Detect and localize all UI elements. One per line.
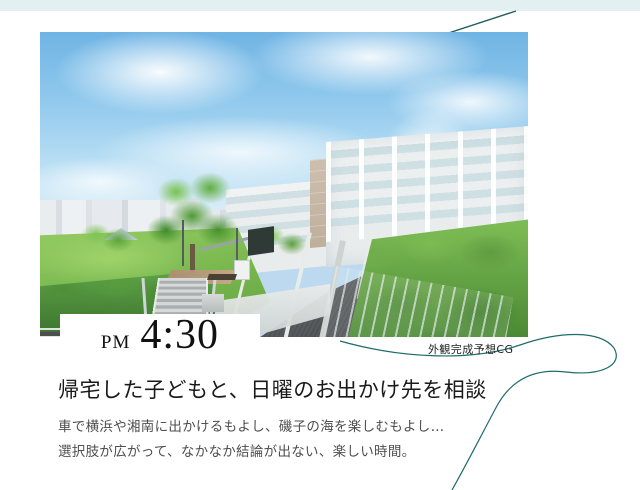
white-signboard: [234, 260, 250, 280]
photo-caption: 外観完成予想CG: [428, 341, 513, 357]
hero-photo: [40, 32, 528, 337]
page-title: 帰宅した子どもと、日曜のお出かけ先を相談: [58, 374, 487, 404]
body-copy-line-1: 車で横浜や湘南に出かけるもよし、磯子の海を楽しむもよし…: [58, 415, 444, 440]
body-copy-line-2: 選択肢が広がって、なかなか結論が出ない、楽しい時間。: [58, 440, 444, 465]
ribbon-curve-loop: [452, 348, 616, 490]
dark-signboard: [248, 226, 274, 256]
tree-small-left: [78, 218, 134, 264]
top-accent-strip: [0, 0, 640, 11]
lamp-post-1: [182, 220, 184, 266]
tree-large: [148, 172, 242, 260]
utility-box: [202, 294, 224, 312]
body-copy: 車で横浜や湘南に出かけるもよし、磯子の海を楽しむもよし… 選択肢が広がって、なか…: [58, 415, 444, 465]
time-value-label: 4:30: [140, 314, 219, 356]
park-bench: [207, 274, 237, 280]
time-ampm-label: PM: [101, 326, 130, 353]
poster-stage: PM 4:30 外観完成予想CG 帰宅した子どもと、日曜のお出かけ先を相談 車で…: [0, 0, 640, 490]
time-badge: PM 4:30: [60, 314, 260, 365]
